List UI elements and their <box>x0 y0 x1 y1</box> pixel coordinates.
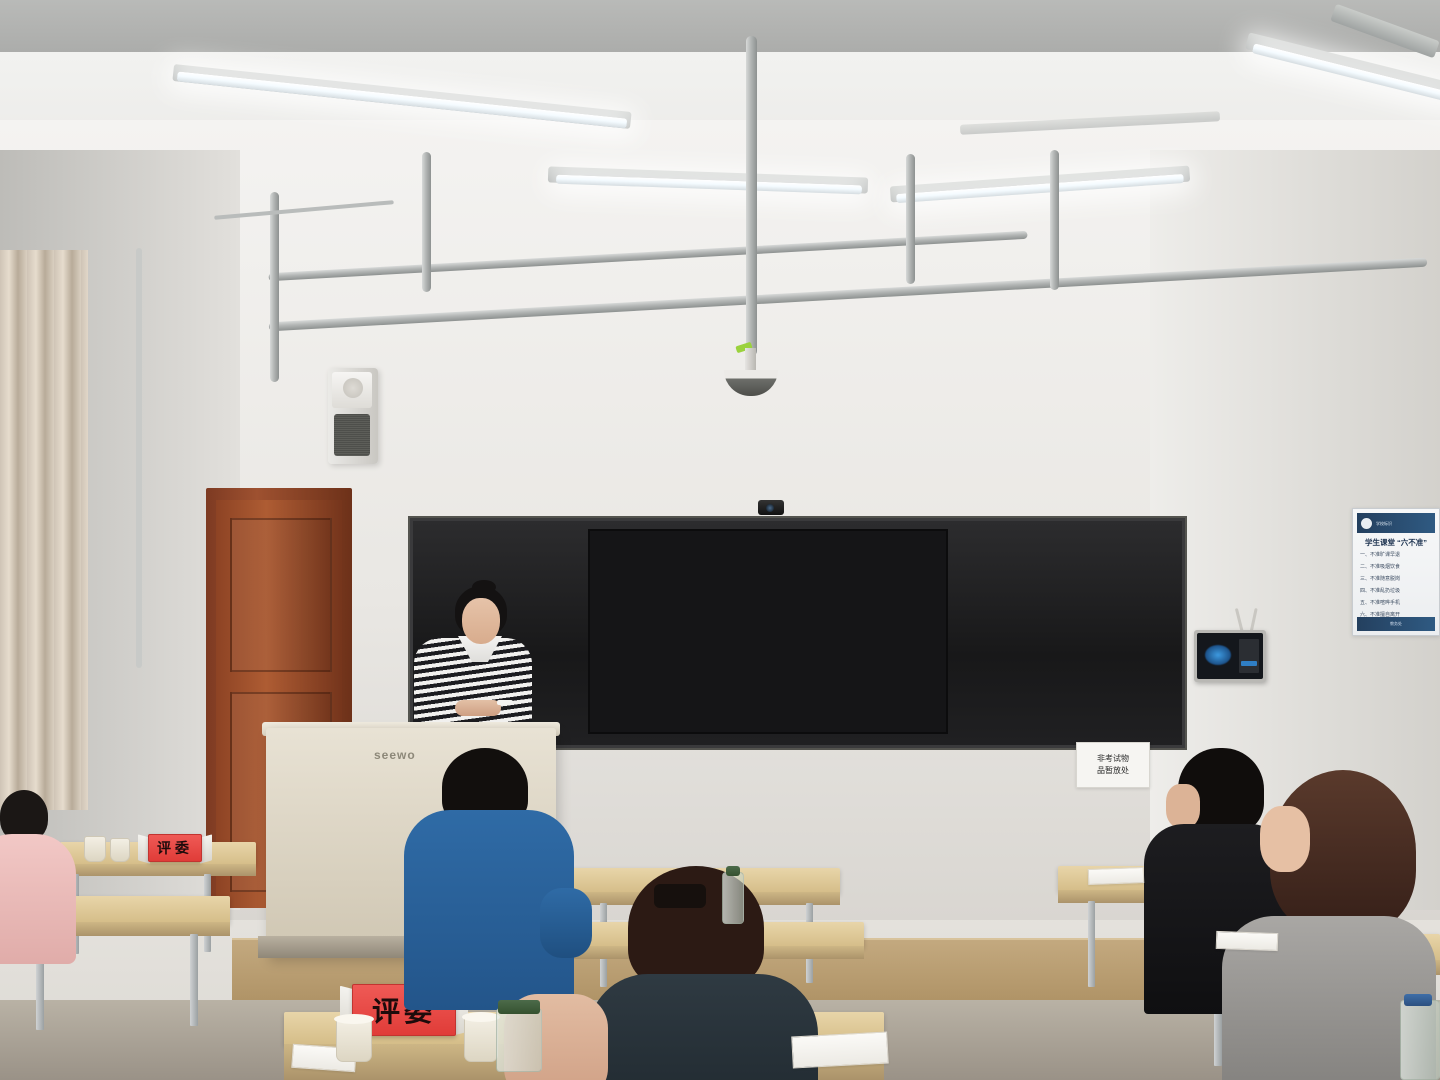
monitor-side-panel <box>1239 639 1259 673</box>
podium-brand-label: seewo <box>374 748 416 762</box>
face-profile <box>1166 784 1200 828</box>
paper-cup <box>110 838 130 862</box>
torso <box>0 834 76 964</box>
speaker-cone-icon <box>343 378 363 398</box>
presenter-hair-bun <box>472 580 496 594</box>
desk-leg <box>1088 901 1095 987</box>
poster-rule-2: 二、不准吸烟饮食 <box>1360 563 1400 570</box>
presenter-clicker <box>497 700 513 705</box>
tea-jar <box>496 1008 542 1072</box>
paper-cup <box>336 1018 372 1062</box>
monitor-action-button[interactable] <box>1241 661 1257 666</box>
ceiling-pipe-vertical <box>746 36 757 356</box>
poster-rule-5: 五、不准喧哗手机 <box>1360 599 1400 606</box>
poster-header: 学校标识 <box>1357 513 1435 533</box>
classroom-photo: 1.项目步骤实施 步骤四分解 元素三主线 思政三目标 <box>0 0 1440 1080</box>
speaker-grill <box>334 414 370 456</box>
ceiling-pipe-vertical <box>270 192 279 382</box>
ceiling-pipe-vertical <box>906 154 915 284</box>
face-profile <box>1260 806 1310 872</box>
door-panel <box>230 518 332 672</box>
monitor-graphic <box>1205 645 1231 665</box>
torso <box>588 974 818 1080</box>
tea-jar-lid <box>498 1000 540 1014</box>
poster-org-name: 学校标识 <box>1376 521 1392 526</box>
school-seal-icon <box>1360 517 1373 530</box>
poster-rule-3: 三、不准随意脱岗 <box>1360 575 1400 582</box>
notice-line-2: 品暂放处 <box>1097 765 1129 777</box>
storage-notice-sign: 非考试物 品暂放处 <box>1076 742 1150 788</box>
paper-cup <box>84 836 106 862</box>
desk-leg <box>190 934 198 1026</box>
ceiling-pipe-vertical <box>422 152 431 292</box>
judge-sign: 评委 <box>148 834 202 862</box>
score-sheet <box>1088 867 1145 885</box>
score-sheet <box>1216 931 1279 951</box>
notice-line-1: 非考试物 <box>1097 753 1129 765</box>
poster-rule-4: 四、不准乱扔垃圾 <box>1360 587 1400 594</box>
bottle-cap <box>1404 994 1432 1006</box>
poster-rule-1: 一、不准旷课早退 <box>1360 551 1400 558</box>
cup-rim <box>334 1014 374 1024</box>
arm <box>540 888 592 958</box>
water-bottle <box>722 872 744 924</box>
poster-title: 学生课堂 “六不准” <box>1353 537 1439 548</box>
score-sheet <box>791 1032 889 1069</box>
bottle-cap <box>726 866 740 876</box>
classroom-rules-poster: 学校标识 学生课堂 “六不准” 一、不准旷课早退 二、不准吸烟饮食 三、不准随意… <box>1352 508 1440 636</box>
presenter-face <box>462 598 500 644</box>
desk-left-back-apron <box>60 864 256 876</box>
water-bottle <box>1400 1000 1440 1080</box>
ceiling-pipe-vertical <box>1050 150 1059 290</box>
wall-monitor[interactable] <box>1194 630 1266 682</box>
poster-footer: 教务处 <box>1357 617 1435 631</box>
interactive-display[interactable]: 1.项目步骤实施 步骤四分解 元素三主线 思政三目标 <box>588 529 948 734</box>
poster-footer-text: 教务处 <box>1357 617 1435 631</box>
wall-conduit-vertical <box>136 248 142 668</box>
camera-lens-icon <box>766 504 774 512</box>
cup-rim <box>462 1012 500 1022</box>
presenter-hands <box>455 700 501 716</box>
window-curtain <box>0 250 88 810</box>
wall-monitor-screen <box>1197 633 1263 679</box>
paper-cup <box>464 1016 498 1062</box>
hair-clip <box>654 884 706 908</box>
